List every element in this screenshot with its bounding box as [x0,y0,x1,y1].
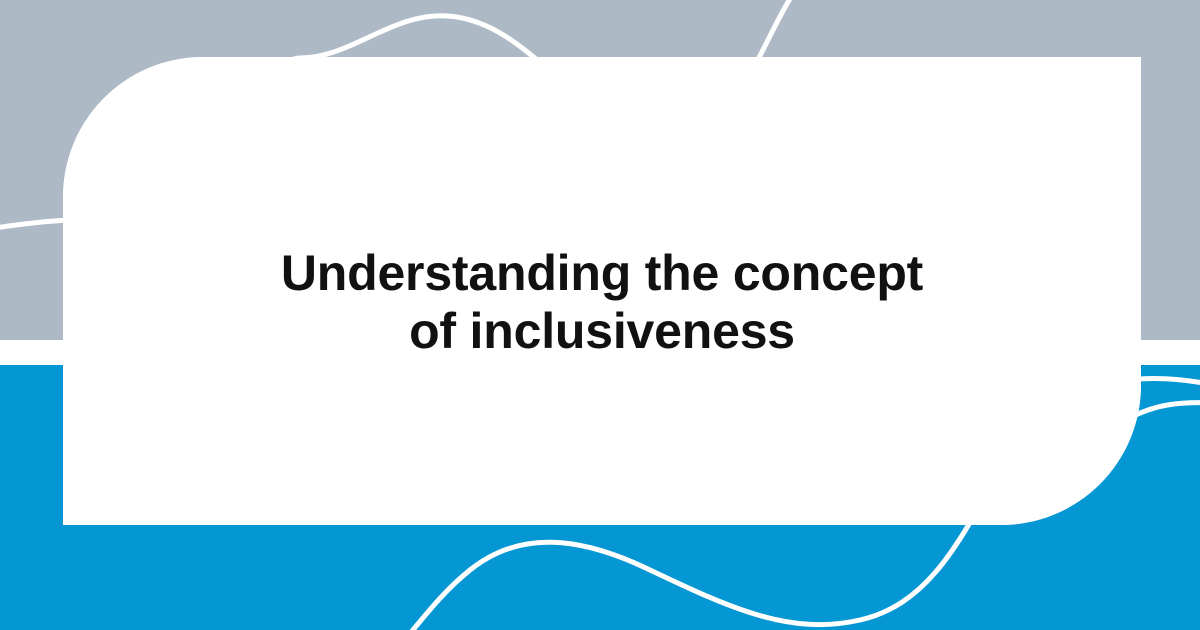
page-title: Understanding the concept of inclusivene… [252,244,952,361]
social-card-canvas: Understanding the concept of inclusivene… [0,0,1200,630]
content-card: Understanding the concept of inclusivene… [63,57,1141,525]
title-block: Understanding the concept of inclusivene… [252,244,952,361]
